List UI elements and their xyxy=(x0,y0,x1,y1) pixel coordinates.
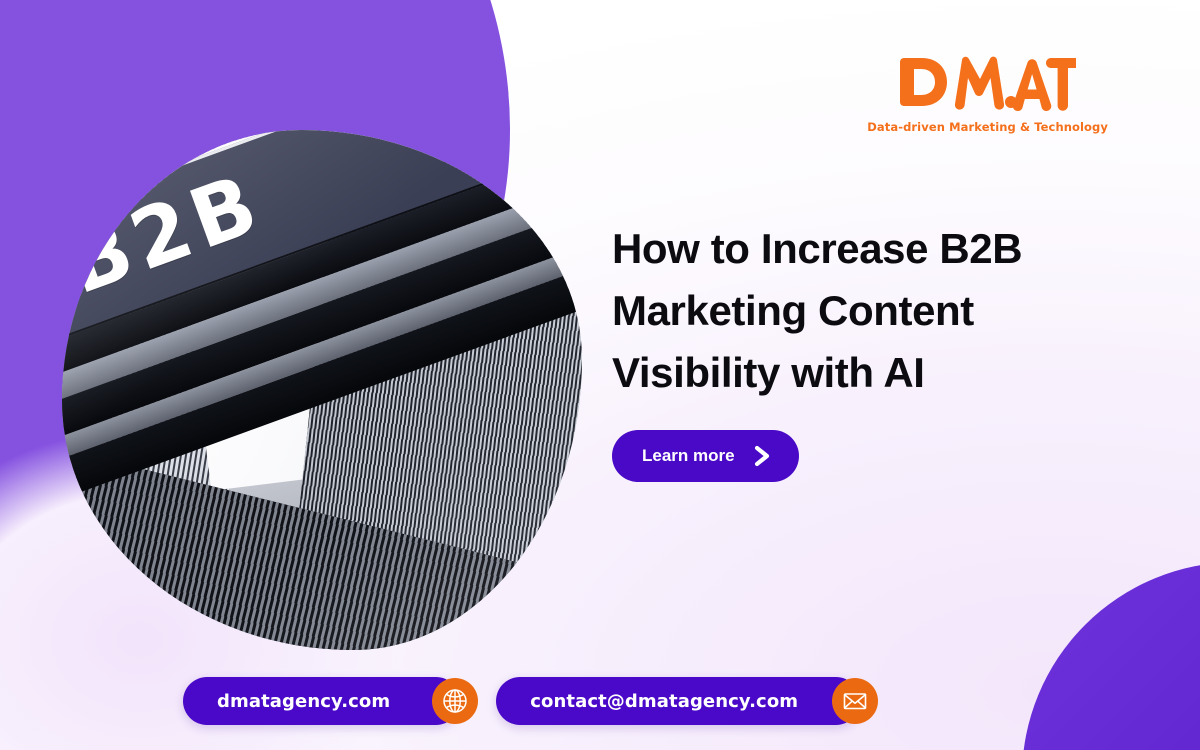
website-label: dmatagency.com xyxy=(217,691,390,712)
hero-image-blob: B2B xyxy=(62,130,582,650)
hero-copy: How to Increase B2B Marketing Content Vi… xyxy=(612,218,1082,482)
decorative-purple-circle-bottom-right xyxy=(1022,562,1200,750)
learn-more-button[interactable]: Learn more xyxy=(612,430,799,482)
banner-canvas: B2B xyxy=(0,0,1200,750)
learn-more-label: Learn more xyxy=(642,446,735,466)
footer-contact-bar: dmatagency.com contact@dmatagency.com xyxy=(183,677,860,725)
chevron-right-icon xyxy=(753,445,773,467)
headline-line-1: How to Increase B2B xyxy=(612,225,1022,272)
page-title: How to Increase B2B Marketing Content Vi… xyxy=(612,218,1082,404)
hero-photo: B2B xyxy=(62,130,582,650)
email-pill[interactable]: contact@dmatagency.com xyxy=(496,677,860,725)
logo-tagline: Data-driven Marketing & Technology xyxy=(867,120,1108,134)
logo-wordmark-icon xyxy=(867,52,1108,116)
dmat-logo[interactable]: Data-driven Marketing & Technology xyxy=(867,52,1108,134)
headline-line-2: Marketing Content xyxy=(612,287,974,334)
email-label: contact@dmatagency.com xyxy=(530,691,798,712)
website-pill[interactable]: dmatagency.com xyxy=(183,677,460,725)
envelope-icon xyxy=(832,678,878,724)
globe-icon xyxy=(432,678,478,724)
headline-line-3: Visibility with AI xyxy=(612,349,925,396)
